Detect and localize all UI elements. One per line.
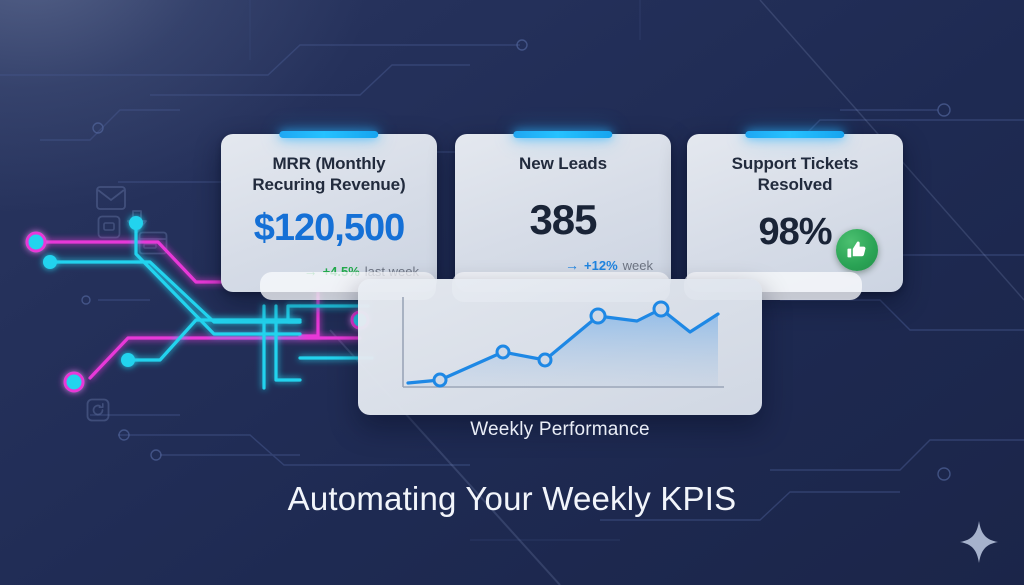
chart-caption: Weekly Performance: [358, 419, 762, 441]
slide-canvas: MRR (Monthly Recuring Revenue) $120,500 …: [0, 0, 1024, 585]
card-accent-bar: [745, 131, 844, 138]
sparkle-icon: [958, 519, 1000, 565]
kpi-card-support-tickets[interactable]: Support Tickets Resolved 98%: [687, 134, 903, 292]
thumbs-up-icon: [846, 239, 868, 261]
mail-icon: [96, 186, 126, 210]
card-accent-bar: [513, 131, 612, 138]
kpi-card-title: New Leads: [519, 154, 607, 175]
trend-arrow-icon: →: [565, 257, 579, 273]
kpi-card-new-leads[interactable]: New Leads 385 → +12% week: [455, 134, 671, 292]
kpi-card-value: 385: [529, 199, 596, 241]
kpi-delta: → +12% week: [565, 257, 653, 273]
kpi-card-title: MRR (Monthly Recuring Revenue): [237, 154, 421, 195]
kpi-delta-note: week: [623, 258, 653, 273]
line-area-chart: 0%: [358, 279, 762, 415]
kpi-card-value: $120,500: [254, 209, 405, 247]
kpi-card-title: Support Tickets Resolved: [703, 154, 887, 195]
page-title: Automating Your Weekly KPIS: [0, 480, 1024, 518]
status-badge: [836, 229, 878, 271]
kpi-card-mrr[interactable]: MRR (Monthly Recuring Revenue) $120,500 …: [221, 134, 437, 292]
card-accent-bar: [279, 131, 378, 138]
weekly-performance-chart-panel[interactable]: 0%: [358, 279, 762, 415]
kpi-delta-value: +12%: [584, 258, 618, 273]
kpi-card-value: 98%: [758, 213, 831, 251]
